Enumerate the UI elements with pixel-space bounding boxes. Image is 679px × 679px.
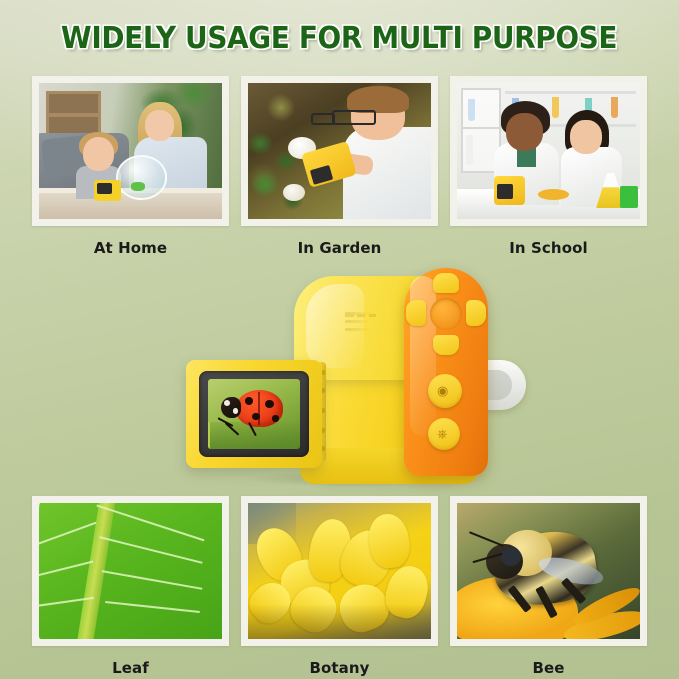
camera-icon[interactable]: ◉ [428,374,462,408]
chevron-right-icon[interactable] [466,300,486,326]
chevron-left-icon[interactable] [406,300,426,326]
photo-leaf [39,503,222,639]
chevron-up-icon[interactable] [433,273,459,293]
photo-frame [450,76,647,226]
usage-scene-card: In School [450,76,647,257]
usage-scene-card: At Home [32,76,229,257]
usage-scenes-row: At Home In Garden [0,76,679,257]
photo-in-garden [248,83,431,219]
product-infographic: WIDELY USAGE FOR MULTI PURPOSE [0,0,679,679]
photo-botany [248,503,431,639]
embossed-logo [345,312,389,336]
photo-bee [457,503,640,639]
photo-frame [32,496,229,646]
sample-image-card: Bee [450,496,647,677]
sample-image-label: Leaf [32,659,229,677]
photo-at-home [39,83,222,219]
page-title-text: WIDELY USAGE FOR MULTI PURPOSE [61,21,617,56]
photo-frame [241,496,438,646]
photo-frame [32,76,229,226]
sample-images-row: Leaf Botany [0,496,679,677]
photo-in-school [457,83,640,219]
photo-frame [450,496,647,646]
ok-icon[interactable] [430,298,462,330]
sample-image-card: Leaf [32,496,229,677]
sample-image-label: Botany [241,659,438,677]
page-title: WIDELY USAGE FOR MULTI PURPOSE [0,21,679,56]
usage-scene-card: In Garden [241,76,438,257]
chevron-down-icon[interactable] [433,335,459,355]
power-icon[interactable]: ⎈ [428,418,460,450]
sample-image-card: Botany [241,496,438,677]
sample-image-label: Bee [450,659,647,677]
lcd-screen[interactable] [208,379,300,449]
photo-frame [241,76,438,226]
product-image: ◉ ⎈ [0,252,679,492]
